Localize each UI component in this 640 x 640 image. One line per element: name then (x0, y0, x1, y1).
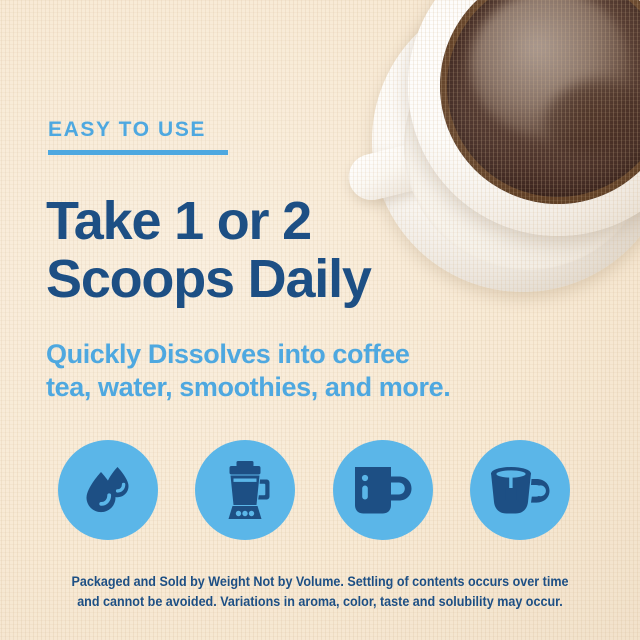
icon-badge-teacup (470, 440, 570, 540)
eyebrow-label: EASY TO USE (48, 118, 206, 142)
icon-badge-blender (195, 440, 295, 540)
subheading-line-2: tea, water, smoothies, and more. (46, 371, 450, 404)
eyebrow-underline (48, 150, 228, 155)
subheading-line-1: Quickly Dissolves into coffee (46, 338, 450, 371)
disclaimer-line-1: Packaged and Sold by Weight Not by Volum… (22, 572, 617, 592)
headline-line-1: Take 1 or 2 (46, 192, 371, 250)
disclaimer-text: Packaged and Sold by Weight Not by Volum… (22, 572, 617, 612)
disclaimer-line-2: and cannot be avoided. Variations in aro… (22, 592, 617, 612)
product-marketing-poster: EASY TO USE Take 1 or 2 Scoops Daily Qui… (0, 0, 640, 640)
coffee-mug-icon (352, 464, 414, 516)
icon-badge-water (58, 440, 158, 540)
blender-icon (216, 459, 274, 521)
tea-cup-icon (488, 464, 552, 516)
icon-badge-mug (333, 440, 433, 540)
water-drops-icon (77, 459, 139, 521)
page-title: Take 1 or 2 Scoops Daily (46, 192, 371, 308)
headline-line-2: Scoops Daily (46, 250, 371, 308)
subheading: Quickly Dissolves into coffee tea, water… (46, 338, 450, 404)
usage-icon-row (0, 440, 640, 542)
coffee-cup-photo (352, 0, 640, 300)
